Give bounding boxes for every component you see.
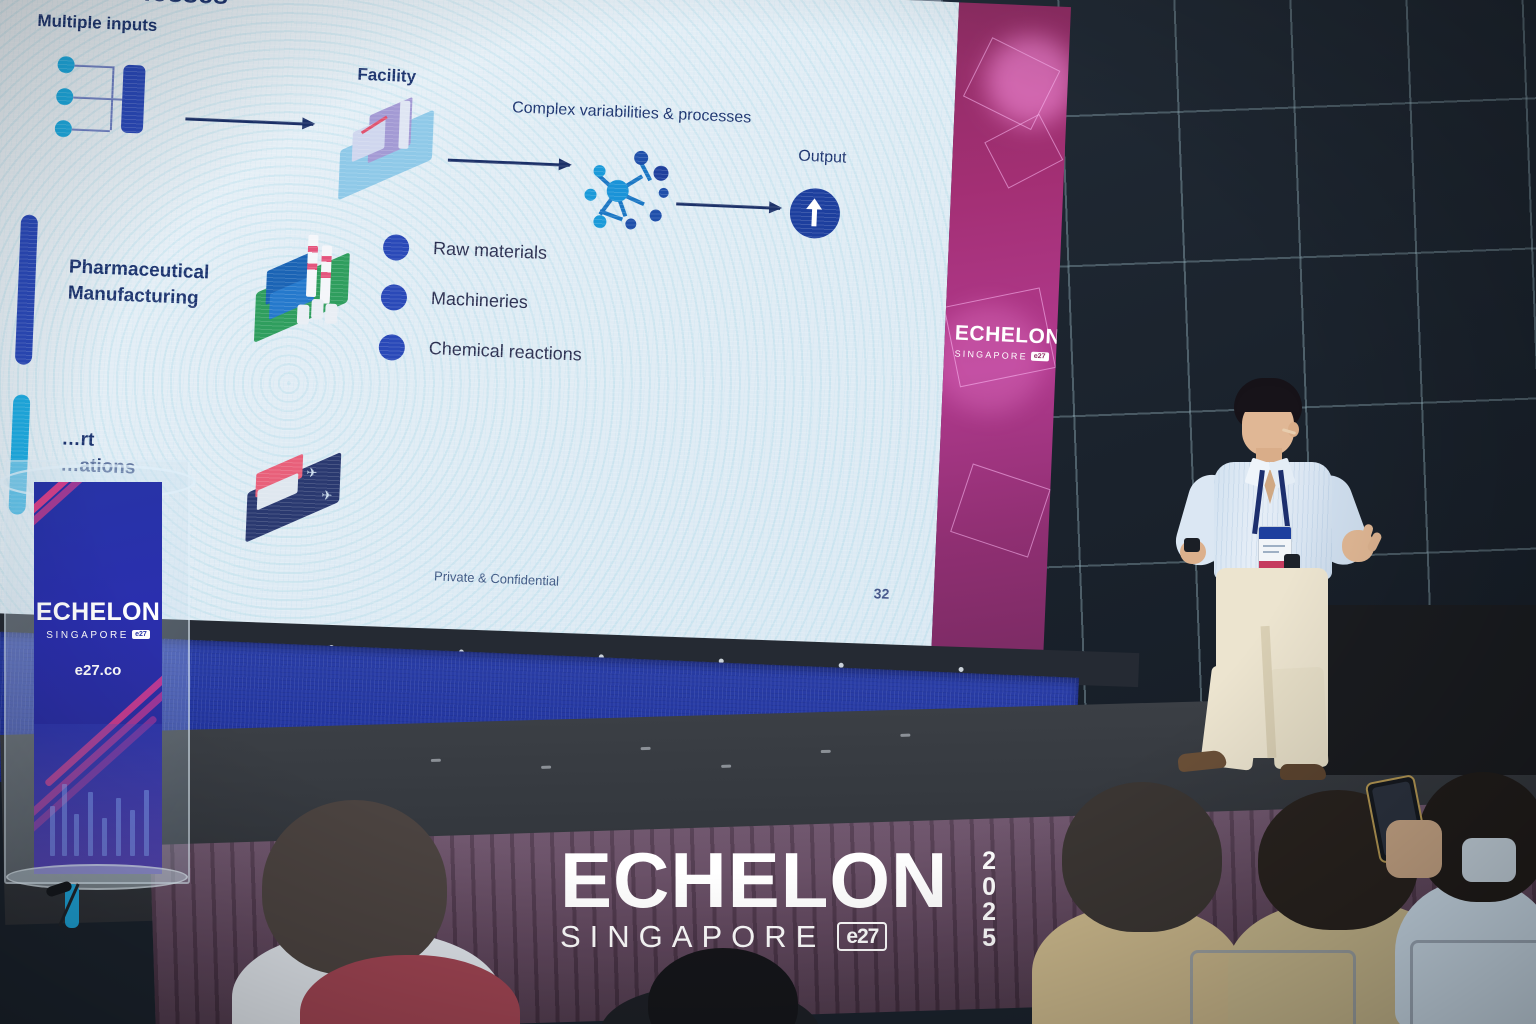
podium-base [6,864,188,890]
speaker-podium: ECHELON SINGAPOREe27 e27.co [10,460,180,880]
watermark-year: 2 0 2 5 [982,849,996,951]
podium-branding-panel: ECHELON SINGAPOREe27 e27.co [34,482,162,874]
e27-badge: e27 [132,630,150,639]
singapore-wordmark: SINGAPORE [954,348,1028,361]
watermark-year-digit-1: 2 [982,849,996,875]
audience-chair-2 [1410,940,1536,1024]
audience-head-3 [1062,782,1222,932]
speaker-leg-right [1269,667,1328,770]
speaker-shoe-right [1280,764,1326,780]
watermark-echelon: ECHELON [560,845,990,917]
audience-head-1 [262,800,447,975]
echelon-wordmark: ECHELON [34,600,162,625]
podium-url: e27.co [34,662,162,679]
face-mask-icon [1462,838,1516,882]
stage-presentation-photo: …ciencies in complex industrial processe… [0,0,1536,1024]
audience-chair-1 [1190,950,1356,1024]
event-watermark: ECHELON SINGAPORE e27 2 0 2 5 [560,845,990,952]
attendee-hand-holding-phone [1386,820,1442,878]
watermark-e27-badge: e27 [837,922,887,951]
watermark-year-digit-2: 0 [982,875,996,901]
echelon-logo-side-panel: ECHELON SINGAPOREe27 [954,322,1051,365]
speaker-shoe-left [1177,750,1227,773]
presentation-clicker-icon [1184,538,1200,552]
e27-badge: e27 [1031,352,1049,362]
speaker-presenter [1160,378,1395,798]
singapore-wordmark: SINGAPORE [46,630,129,641]
watermark-year-digit-3: 2 [982,900,996,926]
echelon-logo-podium: ECHELON SINGAPOREe27 [34,600,162,643]
watermark-year-digit-4: 5 [982,926,996,952]
watermark-singapore: SINGAPORE [560,921,825,952]
